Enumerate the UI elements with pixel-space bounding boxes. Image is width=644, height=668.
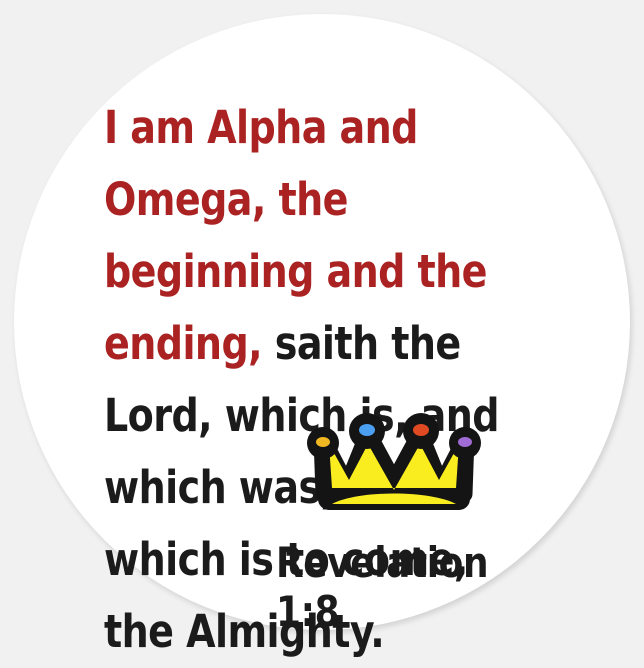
crown-jewel-left-center <box>349 413 385 449</box>
crown-icon <box>306 412 482 518</box>
crown-jewel-far-right <box>449 427 481 459</box>
crown-jewel-far-left <box>307 427 339 459</box>
sticker-scene: I am Alpha and Omega, the beginning and … <box>0 0 644 644</box>
crown-shape <box>307 413 481 510</box>
crown-jewel-right-center <box>403 413 439 449</box>
verse-reference: Revelation 1:8 <box>276 538 523 636</box>
